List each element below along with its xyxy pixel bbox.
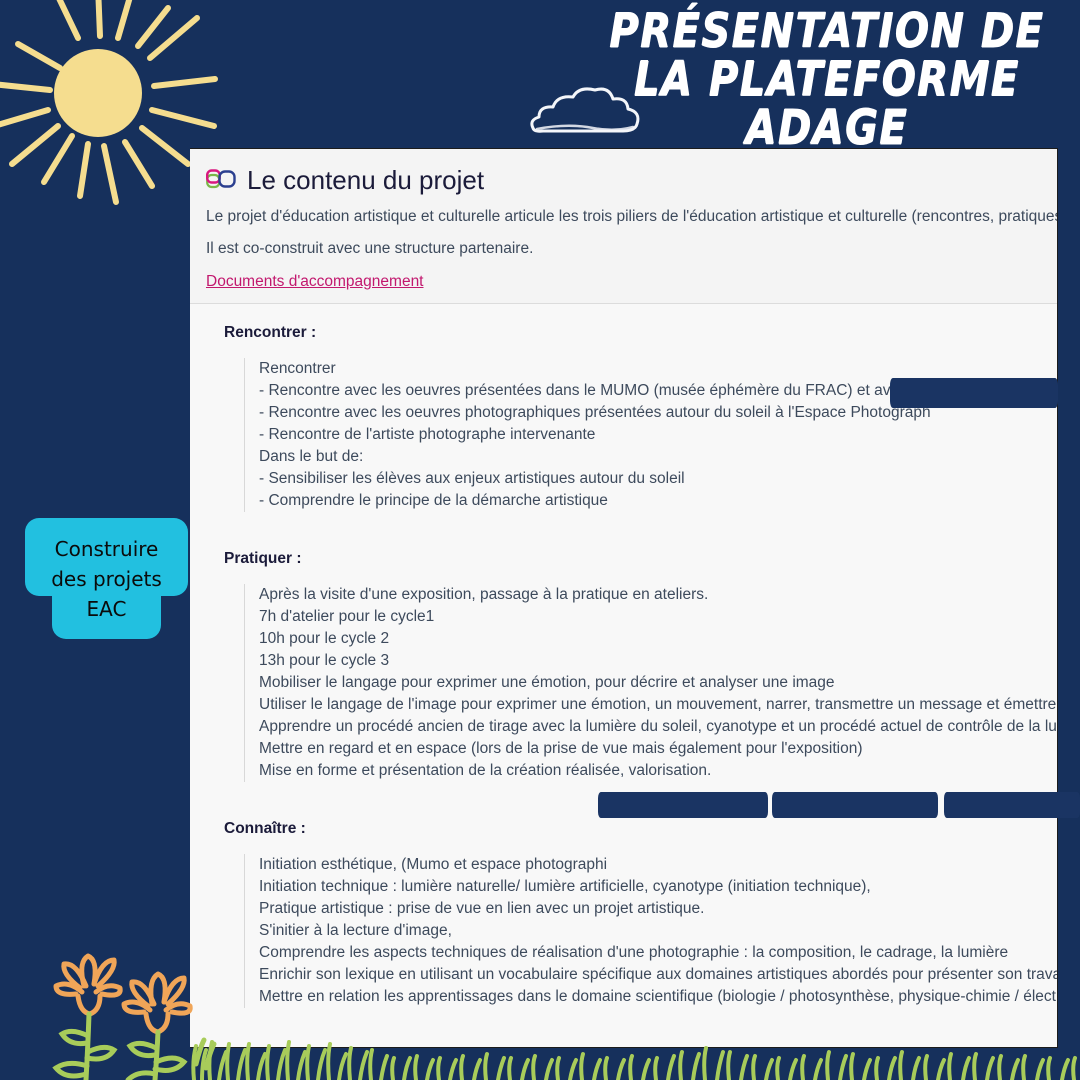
pillar-line: Enrichir son lexique en utilisant un voc… xyxy=(259,964,1058,986)
pillar-section: Pratiquer :Après la visite d'une exposit… xyxy=(190,550,1058,814)
panel-scroll-area: Le contenu du projet Le projet d'éducati… xyxy=(190,149,1058,1048)
panel-intro-line-1: Le projet d'éducation artistique et cult… xyxy=(206,205,1058,228)
pillar-line: - Rencontre avec les oeuvres photographi… xyxy=(259,402,1058,424)
pillar-line: Mettre en regard et en espace (lors de l… xyxy=(259,738,1058,760)
pillar-line: 7h d'atelier pour le cycle1 xyxy=(259,606,1058,628)
pillar-line: Utiliser le langage de l'image pour expr… xyxy=(259,694,1058,716)
pillar-line: Mettre en relation les apprentissages da… xyxy=(259,986,1058,1008)
panel-title-row: Le contenu du projet xyxy=(206,165,1058,196)
pillar-line: - Rencontre avec les oeuvres présentées … xyxy=(259,380,1058,402)
pillar-line: S'initier à la lecture d'image, xyxy=(259,920,1058,942)
pillar-spacer xyxy=(190,1008,1058,1040)
pillar-line: Apprendre un procédé ancien de tirage av… xyxy=(259,716,1058,738)
pillar-line: Pratique artistique : prise de vue en li… xyxy=(259,898,1058,920)
pillar-spacer xyxy=(190,782,1058,814)
pillar-line: Initiation technique : lumière naturelle… xyxy=(259,876,1058,898)
pillar-lines: Initiation esthétique, (Mumo et espace p… xyxy=(244,854,1058,1008)
project-content-panel: Le contenu du projet Le projet d'éducati… xyxy=(190,148,1058,1048)
pillar-title: Restitutions envisagées : xyxy=(224,1046,1058,1048)
badge-line-3: EAC xyxy=(87,596,127,622)
pillar-lines: Après la visite d'une exposition, passag… xyxy=(244,584,1058,782)
pillar-section: Rencontrer :Rencontrer- Rencontre avec l… xyxy=(190,324,1058,544)
pillar-section: Restitutions envisagées :Exposition lors… xyxy=(190,1046,1058,1048)
pillars-container: Rencontrer :Rencontrer- Rencontre avec l… xyxy=(190,303,1058,1048)
construire-projets-eac-badge[interactable]: Construire des projets EAC xyxy=(25,518,188,639)
pillar-line: Après la visite d'une exposition, passag… xyxy=(259,584,1058,606)
panel-header: Le contenu du projet Le projet d'éducati… xyxy=(190,149,1058,303)
pillar-section: Connaître :Initiation esthétique, (Mumo … xyxy=(190,820,1058,1040)
pillar-line: 10h pour le cycle 2 xyxy=(259,628,1058,650)
badge-line-1: Construire xyxy=(55,536,159,562)
sun-icon xyxy=(0,0,222,206)
documents-accompagnement-link[interactable]: Documents d'accompagnement xyxy=(206,273,424,291)
pillar-line: - Comprendre le principe de la démarche … xyxy=(259,490,1058,512)
pillar-line: 13h pour le cycle 3 xyxy=(259,650,1058,672)
pillar-line: Comprendre les aspects techniques de réa… xyxy=(259,942,1058,964)
slide-canvas: Présentation de la plateforme ADAGE Cons… xyxy=(0,0,1080,1080)
badge-label-group: Construire des projets EAC xyxy=(25,518,188,639)
pillar-line: Rencontrer xyxy=(259,358,1058,380)
pillar-line: Mobiliser le langage pour exprimer une é… xyxy=(259,672,1058,694)
badge-line-2: des projets xyxy=(51,566,162,592)
pillar-lines: Rencontrer- Rencontre avec les oeuvres p… xyxy=(244,358,1058,512)
pillar-title: Pratiquer : xyxy=(224,550,1058,568)
adage-logo-icon xyxy=(206,169,236,193)
panel-title: Le contenu du projet xyxy=(247,165,484,196)
panel-intro-line-2: Il est co-construit avec une structure p… xyxy=(206,237,1058,260)
pillar-line: - Rencontre de l'artiste photographe int… xyxy=(259,424,1058,446)
page-title: Présentation de la plateforme ADAGE xyxy=(592,8,1062,153)
pillar-title: Connaître : xyxy=(224,820,1058,838)
pillar-title: Rencontrer : xyxy=(224,324,1058,342)
pillar-line: - Sensibiliser les élèves aux enjeux art… xyxy=(259,468,1058,490)
pillar-line: Mise en forme et présentation de la créa… xyxy=(259,760,1058,782)
pillar-spacer xyxy=(190,512,1058,544)
pillar-line: Initiation esthétique, (Mumo et espace p… xyxy=(259,854,1058,876)
pillar-line: Dans le but de: xyxy=(259,446,1058,468)
